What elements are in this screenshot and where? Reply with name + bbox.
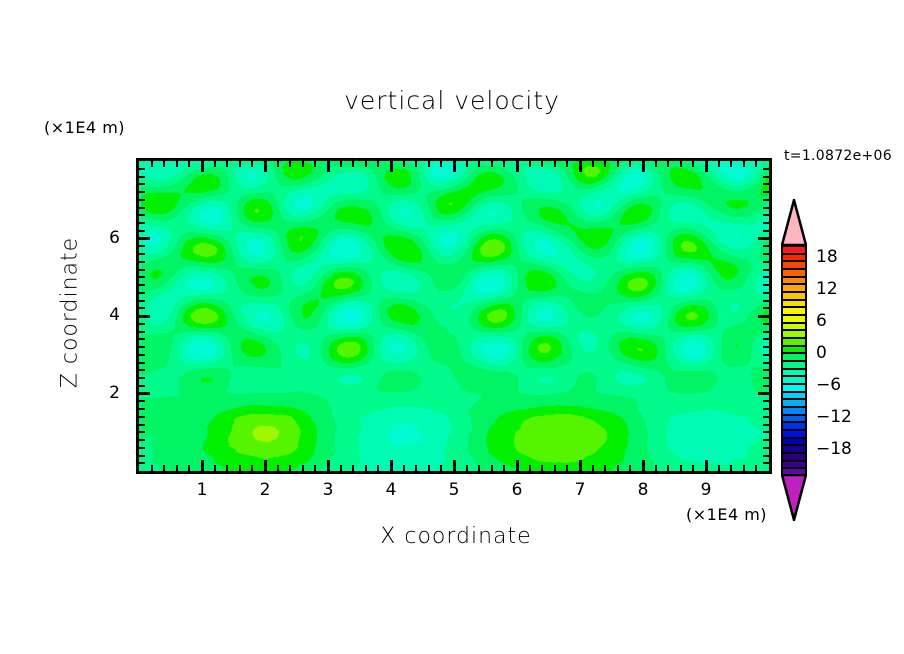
x-axis-tick bbox=[264, 161, 267, 172]
x-axis-tick bbox=[428, 161, 430, 167]
y-axis-tick bbox=[139, 315, 150, 318]
x-axis-tick bbox=[390, 460, 393, 471]
x-axis-tick bbox=[201, 460, 204, 471]
x-tick-label: 7 bbox=[565, 480, 595, 500]
colorbar-label: −12 bbox=[816, 407, 852, 427]
y-axis-tick bbox=[763, 269, 769, 271]
x-axis-tick bbox=[516, 161, 519, 172]
x-axis-tick bbox=[365, 161, 367, 167]
colorbar-label: 12 bbox=[816, 279, 838, 299]
x-axis-tick bbox=[478, 161, 480, 167]
y-axis-tick bbox=[139, 292, 145, 294]
colorbar-label: 6 bbox=[816, 311, 827, 331]
x-axis-tick bbox=[466, 161, 468, 167]
y-axis-tick bbox=[763, 323, 769, 325]
y-axis-tick bbox=[139, 168, 145, 170]
x-axis-tick bbox=[365, 465, 367, 471]
x-axis-tick bbox=[277, 465, 279, 471]
colorbar-over-arrow bbox=[781, 199, 807, 246]
y-axis-tick bbox=[139, 392, 150, 395]
y-axis-tick bbox=[763, 168, 769, 170]
y-axis-tick bbox=[139, 369, 145, 371]
y-axis-tick bbox=[139, 331, 145, 333]
x-axis-tick bbox=[579, 460, 582, 471]
y-axis-tick bbox=[139, 416, 145, 418]
x-axis-tick bbox=[491, 161, 493, 167]
x-axis-tick bbox=[566, 465, 568, 471]
y-axis-tick bbox=[139, 362, 145, 364]
x-axis-title: X coordinate bbox=[236, 524, 676, 549]
y-axis-tick bbox=[139, 307, 145, 309]
x-axis-tick bbox=[289, 161, 291, 167]
y-axis-tick bbox=[139, 230, 145, 232]
x-tick-label: 1 bbox=[187, 480, 217, 500]
x-tick-label: 3 bbox=[313, 480, 343, 500]
y-axis-tick bbox=[763, 245, 769, 247]
y-axis-tick bbox=[763, 261, 769, 263]
x-axis-tick bbox=[554, 465, 556, 471]
x-axis-tick bbox=[327, 161, 330, 172]
x-axis-tick bbox=[592, 161, 594, 167]
x-axis-tick bbox=[239, 161, 241, 167]
x-axis-unit-label: (×1E4 m) bbox=[686, 505, 767, 524]
y-axis-tick bbox=[139, 253, 145, 255]
x-axis-tick bbox=[529, 465, 531, 471]
x-axis-tick bbox=[566, 161, 568, 167]
y-axis-tick bbox=[763, 214, 769, 216]
x-axis-tick bbox=[403, 161, 405, 167]
y-axis-tick bbox=[763, 191, 769, 193]
y-axis-tick bbox=[139, 408, 145, 410]
y-axis-tick bbox=[763, 400, 769, 402]
y-axis-title: Z coordinate bbox=[58, 213, 83, 413]
y-axis-tick bbox=[763, 331, 769, 333]
y-axis-tick bbox=[763, 408, 769, 410]
x-axis-tick bbox=[226, 465, 228, 471]
x-axis-tick bbox=[163, 465, 165, 471]
x-tick-label: 4 bbox=[376, 480, 406, 500]
y-axis-tick bbox=[763, 369, 769, 371]
x-axis-tick bbox=[188, 161, 190, 167]
x-axis-tick bbox=[655, 161, 657, 167]
y-axis-tick bbox=[139, 424, 145, 426]
x-axis-tick bbox=[163, 161, 165, 167]
x-axis-tick bbox=[541, 161, 543, 167]
x-axis-tick bbox=[655, 465, 657, 471]
x-axis-tick bbox=[667, 161, 669, 167]
y-axis-tick bbox=[139, 284, 145, 286]
y-axis-tick bbox=[763, 416, 769, 418]
x-axis-tick bbox=[415, 161, 417, 167]
x-axis-tick bbox=[340, 161, 342, 167]
y-axis-tick bbox=[763, 183, 769, 185]
y-axis-tick bbox=[763, 300, 769, 302]
y-axis-tick bbox=[763, 439, 769, 441]
y-axis-tick bbox=[139, 222, 145, 224]
x-axis-tick bbox=[604, 161, 606, 167]
x-axis-tick bbox=[743, 161, 745, 167]
x-axis-tick bbox=[642, 161, 645, 172]
y-axis-tick bbox=[139, 439, 145, 441]
figure-canvas: vertical velocity (×1E4 m) (×1E4 m) t=1.… bbox=[0, 0, 904, 654]
chart-title: vertical velocity bbox=[0, 86, 904, 115]
x-axis-tick bbox=[214, 465, 216, 471]
x-tick-label: 2 bbox=[250, 480, 280, 500]
x-axis-tick bbox=[478, 465, 480, 471]
y-axis-tick bbox=[139, 400, 145, 402]
y-axis-tick bbox=[763, 447, 769, 449]
y-axis-tick bbox=[763, 424, 769, 426]
x-axis-tick bbox=[466, 465, 468, 471]
y-tick-label: 6 bbox=[96, 228, 120, 248]
x-axis-tick bbox=[302, 465, 304, 471]
y-axis-unit-label: (×1E4 m) bbox=[44, 118, 125, 137]
x-tick-label: 6 bbox=[502, 480, 532, 500]
y-axis-tick bbox=[139, 462, 145, 464]
x-axis-tick bbox=[314, 465, 316, 471]
y-axis-tick bbox=[763, 292, 769, 294]
x-axis-tick bbox=[579, 161, 582, 172]
colorbar-label: 18 bbox=[816, 247, 838, 267]
x-axis-tick bbox=[453, 460, 456, 471]
x-axis-tick bbox=[491, 465, 493, 471]
y-axis-tick bbox=[763, 276, 769, 278]
x-axis-tick bbox=[302, 161, 304, 167]
y-axis-tick bbox=[763, 377, 769, 379]
y-axis-tick bbox=[763, 462, 769, 464]
x-axis-tick bbox=[629, 161, 631, 167]
x-axis-tick bbox=[176, 161, 178, 167]
y-axis-tick bbox=[139, 431, 145, 433]
x-axis-tick bbox=[327, 460, 330, 471]
colorbar-label: −6 bbox=[816, 375, 841, 395]
y-axis-tick bbox=[139, 245, 145, 247]
x-axis-tick bbox=[289, 465, 291, 471]
y-axis-tick bbox=[139, 276, 145, 278]
x-axis-tick bbox=[377, 465, 379, 471]
x-axis-tick bbox=[730, 465, 732, 471]
x-axis-tick bbox=[176, 465, 178, 471]
x-tick-label: 5 bbox=[439, 480, 469, 500]
x-axis-tick bbox=[680, 465, 682, 471]
x-axis-tick bbox=[617, 465, 619, 471]
y-axis-tick bbox=[139, 269, 145, 271]
y-axis-tick bbox=[763, 362, 769, 364]
x-axis-tick bbox=[629, 465, 631, 471]
y-axis-tick bbox=[763, 338, 769, 340]
x-tick-label: 9 bbox=[691, 480, 721, 500]
x-axis-tick bbox=[188, 465, 190, 471]
colorbar-under-arrow bbox=[781, 474, 807, 521]
y-axis-tick bbox=[758, 237, 769, 240]
x-axis-tick bbox=[692, 161, 694, 167]
x-axis-tick bbox=[151, 465, 153, 471]
x-axis-tick bbox=[352, 161, 354, 167]
x-axis-tick bbox=[239, 465, 241, 471]
x-axis-tick bbox=[755, 465, 757, 471]
x-axis-tick bbox=[680, 161, 682, 167]
y-axis-tick bbox=[139, 207, 145, 209]
x-axis-tick bbox=[377, 161, 379, 167]
y-axis-tick bbox=[139, 455, 145, 457]
x-axis-tick bbox=[516, 460, 519, 471]
y-axis-tick bbox=[139, 354, 145, 356]
x-axis-tick bbox=[151, 161, 153, 167]
y-axis-tick bbox=[763, 307, 769, 309]
x-axis-tick bbox=[667, 465, 669, 471]
x-axis-tick bbox=[503, 161, 505, 167]
x-axis-tick bbox=[642, 460, 645, 471]
y-axis-tick bbox=[763, 230, 769, 232]
y-axis-tick bbox=[139, 338, 145, 340]
x-axis-tick bbox=[692, 465, 694, 471]
y-tick-label: 4 bbox=[96, 305, 120, 325]
x-axis-tick bbox=[201, 161, 204, 172]
y-axis-tick bbox=[763, 207, 769, 209]
y-axis-tick bbox=[139, 377, 145, 379]
x-axis-tick bbox=[730, 161, 732, 167]
y-axis-tick bbox=[763, 354, 769, 356]
x-axis-tick bbox=[264, 460, 267, 471]
x-axis-tick bbox=[604, 465, 606, 471]
x-axis-tick bbox=[554, 161, 556, 167]
y-axis-tick bbox=[763, 284, 769, 286]
y-axis-tick bbox=[139, 191, 145, 193]
x-axis-tick bbox=[251, 465, 253, 471]
y-axis-tick bbox=[139, 199, 145, 201]
x-axis-tick bbox=[277, 161, 279, 167]
y-axis-tick bbox=[139, 237, 150, 240]
contour-plot-area bbox=[136, 158, 772, 474]
y-axis-tick bbox=[139, 183, 145, 185]
colorbar bbox=[781, 245, 807, 475]
x-axis-tick bbox=[755, 161, 757, 167]
x-axis-tick bbox=[541, 465, 543, 471]
y-axis-tick bbox=[763, 385, 769, 387]
x-axis-tick bbox=[440, 161, 442, 167]
x-axis-tick bbox=[440, 465, 442, 471]
x-axis-tick bbox=[705, 161, 708, 172]
y-axis-tick bbox=[763, 253, 769, 255]
y-axis-tick bbox=[139, 214, 145, 216]
x-axis-tick bbox=[428, 465, 430, 471]
y-axis-tick bbox=[763, 222, 769, 224]
y-axis-tick bbox=[139, 385, 145, 387]
x-axis-tick bbox=[226, 161, 228, 167]
contour-field bbox=[139, 161, 769, 471]
x-axis-tick bbox=[352, 465, 354, 471]
y-axis-tick bbox=[763, 431, 769, 433]
y-axis-tick bbox=[758, 392, 769, 395]
x-axis-tick bbox=[592, 465, 594, 471]
x-axis-tick bbox=[403, 465, 405, 471]
colorbar-label: −18 bbox=[816, 439, 852, 459]
x-axis-tick bbox=[718, 161, 720, 167]
y-axis-tick bbox=[763, 199, 769, 201]
y-axis-tick bbox=[763, 176, 769, 178]
x-axis-tick bbox=[743, 465, 745, 471]
x-axis-tick bbox=[415, 465, 417, 471]
timestamp-annotation: t=1.0872e+06 bbox=[784, 148, 892, 164]
x-axis-tick bbox=[503, 465, 505, 471]
x-tick-label: 8 bbox=[628, 480, 658, 500]
y-axis-tick bbox=[763, 346, 769, 348]
x-axis-tick bbox=[617, 161, 619, 167]
x-axis-tick bbox=[314, 161, 316, 167]
y-axis-tick bbox=[763, 455, 769, 457]
colorbar-label: 0 bbox=[816, 343, 827, 363]
x-axis-tick bbox=[718, 465, 720, 471]
x-axis-tick bbox=[340, 465, 342, 471]
x-axis-tick bbox=[251, 161, 253, 167]
y-axis-tick bbox=[139, 447, 145, 449]
x-axis-tick bbox=[390, 161, 393, 172]
y-axis-tick bbox=[139, 346, 145, 348]
x-axis-tick bbox=[214, 161, 216, 167]
y-axis-tick bbox=[139, 176, 145, 178]
x-axis-tick bbox=[453, 161, 456, 172]
y-axis-tick bbox=[139, 300, 145, 302]
y-tick-label: 2 bbox=[96, 383, 120, 403]
y-axis-tick bbox=[139, 261, 145, 263]
y-axis-tick bbox=[758, 315, 769, 318]
x-axis-tick bbox=[529, 161, 531, 167]
y-axis-tick bbox=[139, 323, 145, 325]
x-axis-tick bbox=[705, 460, 708, 471]
